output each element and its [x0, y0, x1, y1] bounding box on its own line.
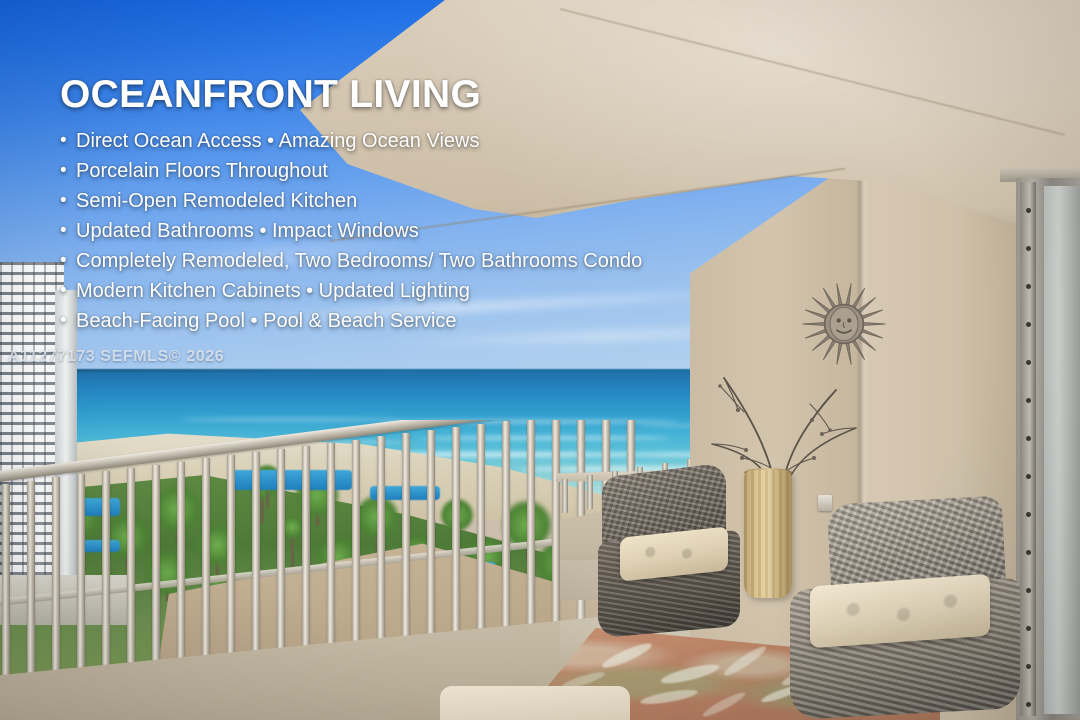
track-hole — [1026, 398, 1031, 403]
seat-cushion — [810, 574, 990, 649]
track-hole — [1026, 284, 1031, 289]
floor-vase — [744, 470, 792, 598]
track-hole — [1026, 360, 1031, 365]
foreground-cushion — [440, 686, 630, 720]
sliding-door-glass — [1044, 186, 1080, 714]
railing-baluster — [587, 475, 593, 509]
track-hole — [1026, 474, 1031, 479]
track-hole — [1026, 322, 1031, 327]
listing-photo-canvas: OCEANFRONT LIVING •Direct Ocean Access •… — [0, 0, 1080, 720]
track-hole — [1026, 436, 1031, 441]
railing-baluster — [562, 479, 568, 513]
wicker-chair-left — [598, 470, 748, 650]
track-hole — [1026, 246, 1031, 251]
wicker-chair-right — [790, 500, 1030, 720]
track-hole — [1026, 208, 1031, 213]
